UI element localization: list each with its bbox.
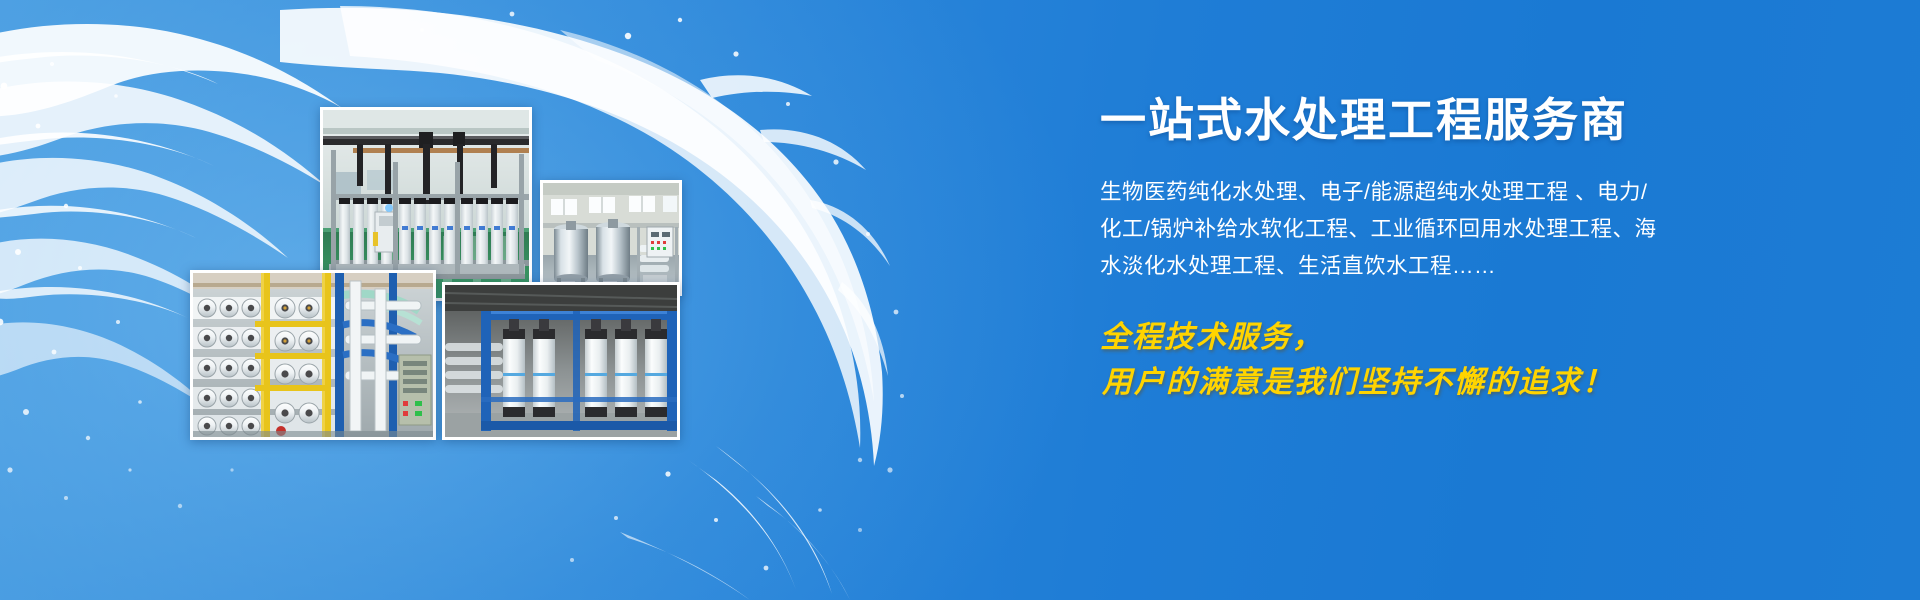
hero-banner: 一站式水处理工程服务商 生物医药纯化水处理、电子/能源超纯水处理工程 、电力/ … <box>0 0 1920 600</box>
photo-uf-column-skid-blue-frame <box>442 282 680 440</box>
photo-stainless-steel-tanks-ro-plant <box>540 180 682 296</box>
banner-title: 一站式水处理工程服务商 <box>1100 96 1800 144</box>
photo-reverse-osmosis-membrane-array <box>190 270 436 440</box>
banner-description: 生物医药纯化水处理、电子/能源超纯水处理工程 、电力/ 化工/锅炉补给水软化工程… <box>1100 174 1690 285</box>
description-line-3: 水淡化水处理工程、生活直饮水工程…… <box>1100 248 1690 285</box>
description-line-1: 生物医药纯化水处理、电子/能源超纯水处理工程 、电力/ <box>1100 174 1690 211</box>
banner-slogan: 全程技术服务， 用户的满意是我们坚持不懈的追求！ <box>1100 315 1800 405</box>
slogan-line-2: 用户的满意是我们坚持不懈的追求！ <box>1100 360 1800 405</box>
slogan-line-1: 全程技术服务， <box>1100 315 1800 360</box>
photo-collage <box>0 0 760 600</box>
description-line-2: 化工/锅炉补给水软化工程、工业循环回用水处理工程、海 <box>1100 211 1690 248</box>
hero-text-block: 一站式水处理工程服务商 生物医药纯化水处理、电子/能源超纯水处理工程 、电力/ … <box>1100 96 1800 405</box>
